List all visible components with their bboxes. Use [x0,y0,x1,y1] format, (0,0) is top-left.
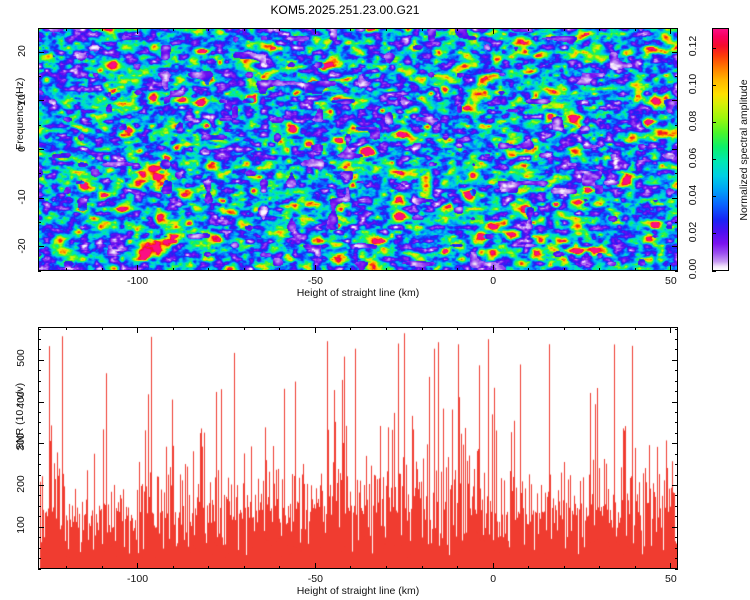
snr-xtick [493,563,494,569]
snr-xtick [315,563,316,569]
colorbar-tick [712,233,716,234]
snr-xtick-minor [599,566,600,569]
heatmap-ytick [38,246,44,247]
heatmap-ytick-right [672,52,678,53]
heatmap-x-axis-label: Height of straight line (km) [38,287,678,299]
snr-ytick-right [672,527,678,528]
snr-xtick-minor-top [635,327,636,330]
snr-xtick-minor [528,566,529,569]
snr-xtick-top [137,327,138,333]
snr-xtick-minor-top [457,327,458,330]
heatmap-ytick [38,52,44,53]
heatmap-xtick [493,265,494,271]
snr-ytick-minor [38,548,41,549]
heatmap-xtick [670,265,671,271]
snr-ytick-minor-right [675,422,678,423]
snr-ytick [38,527,44,528]
snr-profile-plot[interactable] [38,327,678,569]
heatmap-xtick [137,265,138,271]
heatmap-ytick [38,198,44,199]
heatmap-ytick-right [672,198,678,199]
snr-ytick-minor [38,391,41,392]
heatmap-ytick-label: -10 [16,183,28,211]
snr-xtick-minor [279,566,280,569]
heatmap-ytick [38,149,44,150]
heatmap-xtick-label: -100 [124,275,152,287]
snr-ytick-minor [38,558,41,559]
snr-xtick-label: -50 [301,573,329,585]
snr-xtick-minor-top [528,327,529,330]
snr-xtick-minor [457,566,458,569]
heatmap-xtick-label: -50 [301,275,329,287]
snr-xtick-minor [635,566,636,569]
snr-ytick-minor [38,329,41,330]
colorbar-tick-label: 0.08 [687,106,699,136]
snr-ytick-label: 400 [15,385,27,415]
snr-x-axis-label: Height of straight line (km) [38,585,678,597]
snr-xtick-top [670,327,671,333]
heatmap-xtick-minor [208,268,209,271]
snr-ytick-label: 500 [15,343,27,373]
snr-xtick-minor [244,566,245,569]
colorbar-tick-label: 0.12 [687,31,699,61]
heatmap-ytick-label: -20 [16,232,28,260]
heatmap-xtick-label: 0 [479,275,507,287]
heatmap-ytick-minor-right [675,271,678,272]
snr-xtick-minor-top [66,327,67,330]
snr-ytick-minor-right [675,548,678,549]
heatmap-ytick-label: 20 [16,37,28,65]
colorbar-tick [712,271,716,272]
snr-xtick-minor-top [386,327,387,330]
snr-xtick-label: 50 [657,573,685,585]
heatmap-ytick-minor [38,222,41,223]
heatmap-xtick-minor-top [102,28,103,31]
snr-ytick-minor-right [675,464,678,465]
snr-xtick-minor [422,566,423,569]
heatmap-xtick-minor-top [350,28,351,31]
heatmap-ytick-minor [38,76,41,77]
colorbar-title-label: Normalized spectral amplitude [738,79,750,220]
snr-ytick-minor [38,475,41,476]
snr-xtick-minor [173,566,174,569]
snr-xtick-minor-top [244,327,245,330]
snr-ytick-minor [38,422,41,423]
heatmap-xtick-minor [635,268,636,271]
normalized-spectral-amplitude-heatmap[interactable] [38,28,678,271]
heatmap-ytick-minor [38,173,41,174]
snr-ytick-minor-right [675,475,678,476]
heatmap-xtick-minor-top [564,28,565,31]
snr-xtick-minor [350,566,351,569]
snr-xtick-top [315,327,316,333]
snr-xtick [670,563,671,569]
snr-ytick-right [672,443,678,444]
snr-ytick-minor-right [675,506,678,507]
heatmap-image [39,29,677,270]
heatmap-ytick-right [672,149,678,150]
colorbar-tick [712,196,716,197]
heatmap-xtick-minor-top [386,28,387,31]
colorbar-tick-label: 0.10 [687,69,699,99]
snr-ytick-minor [38,370,41,371]
snr-ytick-minor-right [675,391,678,392]
heatmap-ytick-right [672,100,678,101]
snr-xtick-minor [564,566,565,569]
heatmap-xtick-minor-top [599,28,600,31]
snr-ytick-minor [38,569,41,570]
snr-ytick-minor-right [675,381,678,382]
heatmap-ytick-minor [38,125,41,126]
heatmap-xtick-minor-top [635,28,636,31]
heatmap-xtick-minor [279,268,280,271]
snr-ytick [38,485,44,486]
snr-ytick-minor-right [675,349,678,350]
snr-xtick-minor [66,566,67,569]
heatmap-xtick-minor [457,268,458,271]
snr-ytick-minor [38,433,41,434]
snr-xtick-minor-top [422,327,423,330]
snr-ytick-minor-right [675,558,678,559]
heatmap-xtick-minor [422,268,423,271]
snr-xtick-label: -100 [124,573,152,585]
colorbar-tick [712,85,716,86]
heatmap-xtick-minor-top [279,28,280,31]
snr-ytick-minor-right [675,516,678,517]
snr-ytick-minor-right [675,339,678,340]
snr-ytick-minor-right [675,370,678,371]
heatmap-xtick-minor-top [66,28,67,31]
heatmap-xtick-minor [66,268,67,271]
snr-xtick-top [493,327,494,333]
snr-ytick-minor-right [675,537,678,538]
snr-ytick-minor-right [675,569,678,570]
snr-ytick-minor [38,381,41,382]
snr-xtick-minor-top [279,327,280,330]
snr-ytick-minor-right [675,329,678,330]
figure-canvas: KOM5.2025.251.23.00.G21 Frequency (Hz) -… [0,0,750,600]
colorbar-tick-label: 0.06 [687,143,699,173]
snr-xtick-minor [208,566,209,569]
heatmap-xtick-minor-top [244,28,245,31]
heatmap-ytick-minor-right [675,222,678,223]
snr-ytick-minor [38,349,41,350]
snr-ytick-minor-right [675,412,678,413]
heatmap-ytick [38,100,44,101]
snr-ytick-right [672,402,678,403]
heatmap-xtick-minor [244,268,245,271]
heatmap-ytick-right [672,246,678,247]
snr-ytick [38,402,44,403]
snr-trace [39,328,677,568]
snr-ytick [38,443,44,444]
snr-xtick-minor-top [350,327,351,330]
snr-ytick-minor [38,454,41,455]
heatmap-xtick-minor [173,268,174,271]
heatmap-xtick-minor [528,268,529,271]
snr-ytick-minor [38,412,41,413]
heatmap-xtick-minor [386,268,387,271]
snr-xtick-label: 0 [479,573,507,585]
snr-ytick [38,360,44,361]
heatmap-xtick-label: 50 [657,275,685,287]
snr-ytick-minor-right [675,495,678,496]
heatmap-xtick-minor [599,268,600,271]
heatmap-xtick-minor [102,268,103,271]
snr-ytick-label: 200 [15,469,27,499]
snr-xtick-minor-top [564,327,565,330]
heatmap-xtick-minor-top [173,28,174,31]
colorbar-tick [712,48,716,49]
heatmap-xtick-minor [350,268,351,271]
heatmap-xtick-minor-top [208,28,209,31]
colorbar-tick [712,159,716,160]
heatmap-xtick-minor-top [457,28,458,31]
snr-xtick-minor [102,566,103,569]
heatmap-xtick-minor [564,268,565,271]
heatmap-ytick-label: 0 [16,135,28,163]
heatmap-ytick-label: 10 [16,86,28,114]
snr-ytick-minor [38,516,41,517]
colorbar-tick-label: 0.02 [687,217,699,247]
snr-ytick-minor [38,495,41,496]
snr-xtick-minor-top [173,327,174,330]
snr-ytick-right [672,360,678,361]
heatmap-ytick-minor [38,271,41,272]
snr-ytick-label: 100 [15,510,27,540]
heatmap-xtick-minor-top [528,28,529,31]
snr-xtick-minor-top [102,327,103,330]
heatmap-ytick-minor-right [675,28,678,29]
colorbar-tick-label: 0.04 [687,180,699,210]
snr-ytick-right [672,485,678,486]
heatmap-ytick-minor-right [675,125,678,126]
spectral-amplitude-colorbar[interactable] [712,28,729,271]
snr-ytick-minor-right [675,433,678,434]
snr-ytick-minor [38,506,41,507]
snr-ytick-minor [38,537,41,538]
page-title: KOM5.2025.251.23.00.G21 [0,3,690,17]
colorbar-tick-label: 0.00 [687,254,699,284]
snr-ytick-minor [38,464,41,465]
snr-xtick-minor [386,566,387,569]
snr-xtick [137,563,138,569]
heatmap-xtick-top [137,28,138,34]
heatmap-xtick-top [493,28,494,34]
heatmap-ytick-minor-right [675,76,678,77]
heatmap-xtick-top [670,28,671,34]
heatmap-xtick [315,265,316,271]
snr-xtick-minor-top [599,327,600,330]
snr-ytick-minor [38,339,41,340]
heatmap-xtick-minor-top [422,28,423,31]
snr-ytick-label: 300 [15,427,27,457]
heatmap-ytick-minor-right [675,173,678,174]
snr-xtick-minor-top [208,327,209,330]
heatmap-ytick-minor [38,28,41,29]
heatmap-xtick-top [315,28,316,34]
colorbar-tick [712,122,716,123]
snr-ytick-minor-right [675,454,678,455]
